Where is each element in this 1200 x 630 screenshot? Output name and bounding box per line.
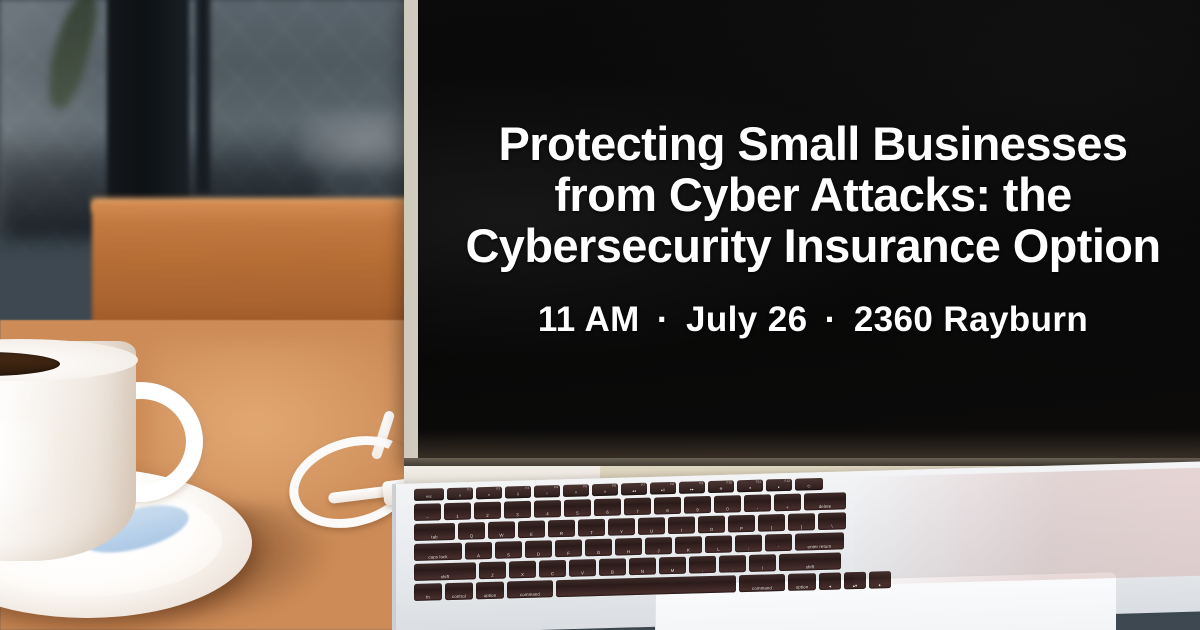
key-label: 2: [474, 513, 501, 518]
key-▸[interactable]: ▸: [869, 571, 891, 589]
key-⏻[interactable]: ⏻: [795, 478, 823, 491]
key-label: ◂◂: [621, 490, 647, 494]
key-label: caps lock: [414, 554, 462, 560]
key-/[interactable]: /: [749, 554, 776, 572]
key-label: I: [668, 528, 695, 533]
key-label: ▴▾: [844, 583, 866, 588]
key-fn-number: F2: [496, 488, 500, 491]
key-label: P: [728, 526, 755, 531]
event-date: July 26: [686, 300, 808, 339]
key-v[interactable]: V: [569, 559, 596, 577]
key-label: ¤: [592, 491, 618, 495]
key-r[interactable]: R: [548, 520, 575, 538]
key-label: ◂: [819, 584, 841, 589]
key-label: R: [548, 531, 575, 536]
key-label: option: [788, 585, 816, 590]
key-h[interactable]: H: [615, 538, 642, 556]
key-fn-number: F10: [727, 481, 733, 484]
key-,[interactable]: ,: [689, 556, 716, 574]
key-fn-number: F8: [670, 483, 674, 486]
key-l[interactable]: L: [705, 535, 732, 553]
key-label: ◂: [737, 487, 763, 491]
key-label: J: [645, 549, 672, 554]
headline-line-1: Protecting Small Businesses: [418, 118, 1200, 169]
key--[interactable]: -: [744, 494, 771, 512]
key-j[interactable]: J: [645, 537, 672, 555]
key-+[interactable]: +: [774, 494, 801, 512]
key-fn-number: F7: [641, 484, 645, 487]
key-label: V: [569, 571, 596, 576]
event-banner: escF1¤F2¤F3⌸F4⌕F5¤F6¤F7◂◂F8▸‖F9▸▸F10⊗F11…: [0, 0, 1200, 630]
key-label: shift: [414, 574, 476, 580]
key-control[interactable]: control: [445, 582, 473, 600]
key-b[interactable]: B: [599, 558, 626, 576]
key-label: tab: [414, 534, 455, 540]
key-1[interactable]: 1: [444, 502, 471, 520]
key-u[interactable]: U: [638, 517, 665, 535]
key-◂◂[interactable]: F7◂◂: [621, 483, 647, 496]
key-label: ;: [735, 546, 762, 551]
event-time: 11 AM: [538, 300, 640, 339]
key-2[interactable]: 2: [474, 502, 501, 520]
key-shift[interactable]: shift: [779, 552, 841, 571]
key-label: O: [698, 527, 725, 532]
key-label: ▸: [869, 583, 891, 588]
key-label: delete: [804, 504, 846, 510]
key-label: ¤: [476, 494, 502, 498]
key-◂[interactable]: ◂: [819, 572, 841, 590]
key-label: ¤: [447, 495, 473, 499]
key-f[interactable]: F: [555, 539, 582, 557]
key-fn-number: F5: [583, 485, 587, 488]
key-g[interactable]: G: [585, 539, 612, 557]
event-location: 2360 Rayburn: [854, 300, 1088, 339]
key-label: 1: [444, 514, 471, 519]
key-8[interactable]: 8: [654, 497, 681, 515]
key-label: E: [518, 532, 545, 537]
key-x[interactable]: X: [509, 561, 536, 579]
key-;[interactable]: ;: [735, 535, 762, 553]
key-¤[interactable]: F1¤: [447, 487, 473, 500]
key-label: G: [585, 550, 612, 555]
key-▴▾[interactable]: ▴▾: [844, 572, 866, 590]
key-fn-number: F1: [467, 488, 471, 491]
key-6[interactable]: 6: [594, 498, 621, 516]
cup-highlight: [0, 420, 60, 540]
key-¤[interactable]: F5¤: [563, 484, 589, 497]
key-label: M: [659, 568, 686, 573]
key-[[interactable]: [: [758, 514, 785, 532]
key-a[interactable]: A: [465, 542, 492, 560]
key-fn[interactable]: fn: [414, 583, 442, 601]
key-label: ,: [689, 567, 716, 572]
key-label: Z: [479, 573, 506, 578]
key-.[interactable]: .: [719, 555, 746, 573]
window-post: [107, 0, 189, 210]
key-⌕[interactable]: F4⌕: [534, 485, 560, 498]
key-label: 8: [654, 508, 681, 513]
key-label: 4: [534, 512, 561, 517]
key-q[interactable]: Q: [458, 522, 485, 540]
key-label: B: [599, 570, 626, 575]
key-fn-number: F3: [525, 487, 529, 490]
key-c[interactable]: C: [539, 560, 566, 578]
key-y[interactable]: Y: [608, 518, 635, 536]
key-label: H: [615, 549, 642, 554]
key-s[interactable]: S: [495, 541, 522, 559]
key-¤[interactable]: F2¤: [476, 487, 502, 500]
key-caps-lock[interactable]: caps lock: [414, 543, 462, 561]
key-delete[interactable]: delete: [804, 492, 846, 510]
key-~[interactable]: ~: [414, 503, 441, 521]
keyboard[interactable]: escF1¤F2¤F3⌸F4⌕F5¤F6¤F7◂◂F8▸‖F9▸▸F10⊗F11…: [414, 467, 1200, 597]
key-label: ⌸: [505, 493, 531, 497]
key-fn-number: F9: [699, 482, 703, 485]
key-label: control: [445, 594, 473, 599]
key-◂[interactable]: F11◂: [737, 480, 763, 493]
key-fn-number: F4: [554, 486, 558, 489]
key-5[interactable]: 5: [564, 499, 591, 517]
key-label: A: [465, 553, 492, 558]
key-w[interactable]: W: [488, 521, 515, 539]
key-label: S: [495, 553, 522, 558]
key-9[interactable]: 9: [684, 496, 711, 514]
key-label: W: [488, 533, 515, 538]
key-label: 5: [564, 511, 591, 516]
key-label: -: [744, 506, 771, 511]
key-label: command: [507, 592, 553, 598]
key-i[interactable]: I: [668, 516, 695, 534]
key-option[interactable]: option: [788, 573, 816, 591]
key-label: ¤: [563, 492, 589, 496]
key-label: ⏻: [795, 485, 823, 489]
key-label: [: [758, 526, 785, 531]
key-label: 0: [714, 507, 741, 512]
wooden-bench: [92, 202, 432, 334]
detail-separator-1: ·: [650, 300, 676, 339]
key-label: ⌕: [534, 492, 560, 496]
key-label: enter return: [795, 544, 844, 550]
key-label: U: [638, 529, 665, 534]
window-post-secondary: [196, 0, 210, 194]
event-details: 11 AM · July 26 · 2360 Rayburn: [418, 300, 1200, 340]
headline-line-3: Cybersecurity Insurance Option: [418, 220, 1200, 271]
key-label: \: [818, 524, 846, 529]
key-⌸[interactable]: F3⌸: [505, 486, 531, 499]
key-k[interactable]: K: [675, 536, 702, 554]
event-headline: Protecting Small Businesses from Cyber A…: [418, 118, 1200, 271]
key-fn-number: F6: [612, 485, 616, 488]
key-p[interactable]: P: [728, 515, 755, 533]
key-label: ▸‖: [650, 489, 676, 493]
key-label: command: [739, 586, 785, 592]
key-\[interactable]: \: [818, 512, 846, 530]
key-label: F: [555, 551, 582, 556]
key-label: C: [539, 571, 566, 576]
key-e[interactable]: E: [518, 520, 545, 538]
key-0[interactable]: 0: [714, 495, 741, 513]
key-label: Q: [458, 534, 485, 539]
key-label: K: [675, 548, 702, 553]
key-label: ⊗: [708, 488, 734, 492]
key-label: ~: [414, 515, 441, 520]
key-label: D: [525, 552, 552, 557]
key-command[interactable]: command: [507, 580, 553, 598]
key-n[interactable]: N: [629, 557, 656, 575]
key-label: ': [765, 545, 792, 550]
key-label: X: [509, 572, 536, 577]
key-label: option: [476, 593, 504, 598]
key-label: L: [705, 547, 732, 552]
key-▸▸[interactable]: F9▸▸: [679, 481, 705, 494]
key-label: +: [774, 505, 801, 510]
key-command[interactable]: command: [739, 574, 785, 592]
key-esc[interactable]: esc: [414, 488, 444, 501]
key-label: Y: [608, 530, 635, 535]
key-m[interactable]: M: [659, 557, 686, 575]
key-3[interactable]: 3: [504, 501, 531, 519]
key-label: N: [629, 569, 656, 574]
key-label: ▸▸: [679, 489, 705, 493]
key-label: T: [578, 530, 605, 535]
key-⊗[interactable]: F10⊗: [708, 480, 734, 493]
key-label: 7: [624, 509, 651, 514]
key-label: .: [719, 567, 746, 572]
key-label: fn: [414, 595, 442, 600]
key-label: 9: [684, 508, 711, 513]
key-label: shift: [779, 564, 841, 570]
key-label: ]: [788, 525, 815, 530]
key-fn-number: F11: [756, 481, 761, 484]
detail-separator-2: ·: [818, 300, 844, 339]
key-enter-return[interactable]: enter return: [795, 532, 844, 550]
key-label: esc: [414, 496, 444, 500]
key-label: /: [749, 566, 776, 571]
headline-line-2: from Cyber Attacks: the: [418, 169, 1200, 220]
key-d[interactable]: D: [525, 540, 552, 558]
key-▸‖[interactable]: F8▸‖: [650, 482, 676, 495]
key-label: ▸: [766, 486, 792, 490]
key-label: 6: [594, 510, 621, 515]
key-][interactable]: ]: [788, 513, 815, 531]
key-▸[interactable]: F12▸: [766, 479, 792, 492]
key-¤[interactable]: F6¤: [592, 483, 618, 496]
key-t[interactable]: T: [578, 519, 605, 537]
key-label: 3: [504, 512, 531, 517]
key-'[interactable]: ': [765, 534, 792, 552]
key-4[interactable]: 4: [534, 500, 561, 518]
key-o[interactable]: O: [698, 516, 725, 534]
key-shift[interactable]: shift: [414, 562, 476, 581]
key-fn-number: F12: [785, 480, 791, 483]
key-z[interactable]: Z: [479, 562, 506, 580]
key-tab[interactable]: tab: [414, 523, 455, 541]
key-option[interactable]: option: [476, 582, 504, 600]
key-7[interactable]: 7: [624, 498, 651, 516]
